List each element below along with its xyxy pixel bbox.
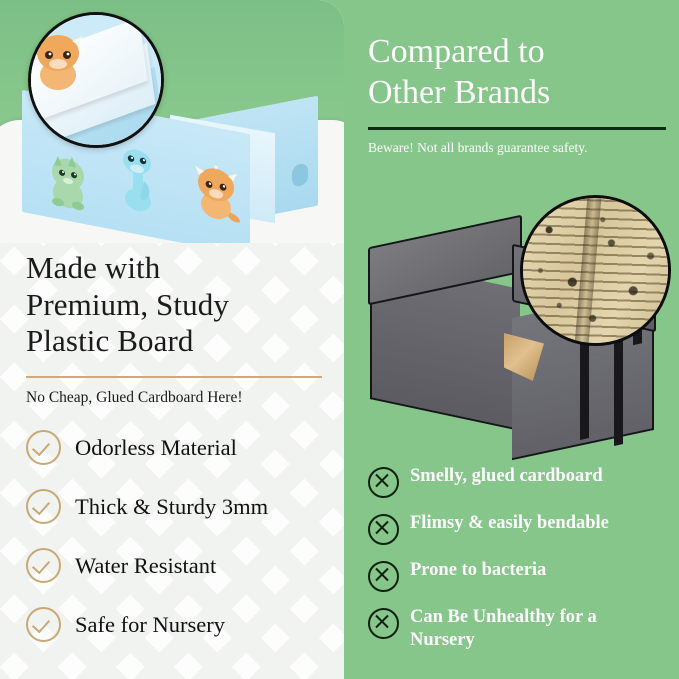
drawback-label: Flimsy & easily bendable xyxy=(410,512,609,535)
headline-line-3: Plastic Board xyxy=(26,323,326,360)
headline-line-2: Premium, Study xyxy=(26,287,326,324)
x-icon xyxy=(368,467,399,498)
list-item: Odorless Material xyxy=(26,418,344,477)
headline-line-1: Made with xyxy=(26,250,326,287)
check-icon xyxy=(26,430,61,465)
list-item: Smelly, glued cardboard xyxy=(368,465,673,498)
drawback-label: Smelly, glued cardboard xyxy=(410,465,603,488)
feature-label: Safe for Nursery xyxy=(75,612,225,638)
left-headline: Made with Premium, Study Plastic Board xyxy=(26,250,326,360)
teal-brachiosaurus-dinosaur-icon xyxy=(116,142,160,217)
list-item: Can Be Unhealthy for a Nursery xyxy=(368,606,673,651)
list-item: Flimsy & easily bendable xyxy=(368,512,673,545)
mold-spots xyxy=(523,198,668,343)
magnified-orange-dinosaur-icon xyxy=(28,33,89,96)
left-text-block: Made with Premium, Study Plastic Board N… xyxy=(26,250,326,407)
list-item: Thick & Sturdy 3mm xyxy=(26,477,344,536)
product-comparison-infographic: Made with Premium, Study Plastic Board N… xyxy=(0,0,679,679)
feature-label: Water Resistant xyxy=(75,553,216,579)
drawback-label: Can Be Unhealthy for a Nursery xyxy=(410,606,638,651)
right-title: Compared to Other Brands xyxy=(368,32,668,114)
x-icon xyxy=(368,608,399,639)
list-item: Prone to bacteria xyxy=(368,559,673,592)
moldy-corrugated-cardboard-magnifier xyxy=(520,195,671,346)
drawback-label: Prone to bacteria xyxy=(410,559,546,582)
left-hero-product-image xyxy=(0,0,344,243)
orange-triceratops-dinosaur-icon xyxy=(192,161,242,225)
drawback-list: Smelly, glued cardboard Flimsy & easily … xyxy=(368,465,673,665)
feature-label: Thick & Sturdy 3mm xyxy=(75,494,268,520)
left-white-panel: Made with Premium, Study Plastic Board N… xyxy=(0,0,344,679)
feature-label: Odorless Material xyxy=(75,435,237,461)
check-icon xyxy=(26,548,61,583)
check-icon xyxy=(26,607,61,642)
right-title-line-1: Compared to xyxy=(368,32,668,73)
x-icon xyxy=(368,561,399,592)
dark-divider-rule xyxy=(368,127,666,130)
right-title-line-2: Other Brands xyxy=(368,73,668,114)
right-subtitle: Beware! Not all brands guarantee safety. xyxy=(368,140,668,156)
green-t-rex-dinosaur-icon xyxy=(46,150,90,215)
plastic-board-layers-magnifier xyxy=(28,12,164,148)
list-item: Water Resistant xyxy=(26,536,344,595)
left-subline: No Cheap, Glued Cardboard Here! xyxy=(26,389,326,407)
gold-divider-rule xyxy=(26,376,322,378)
check-icon xyxy=(26,489,61,524)
x-icon xyxy=(368,514,399,545)
right-header-block: Compared to Other Brands Beware! Not all… xyxy=(368,32,668,156)
list-item: Safe for Nursery xyxy=(26,595,344,654)
feature-list: Odorless Material Thick & Sturdy 3mm Wat… xyxy=(26,418,344,654)
